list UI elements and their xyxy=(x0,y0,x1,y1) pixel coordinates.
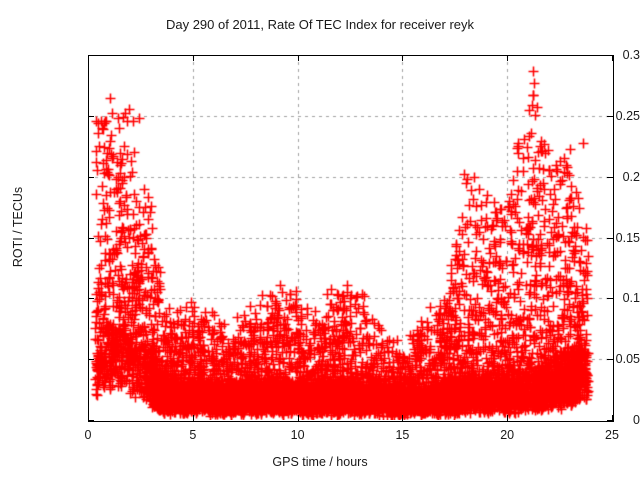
y-tickmark xyxy=(607,298,613,299)
x-tickmark xyxy=(298,55,299,61)
page-title: Day 290 of 2011, Rate Of TEC Index for r… xyxy=(0,17,640,32)
roti-scatter-plot: Day 290 of 2011, Rate Of TEC Index for r… xyxy=(0,0,640,480)
x-tick-label: 25 xyxy=(582,428,640,442)
x-tickmark xyxy=(88,415,89,421)
y-tickmark xyxy=(88,177,94,178)
x-tickmark xyxy=(507,415,508,421)
y-tickmark xyxy=(88,238,94,239)
x-tickmark xyxy=(193,415,194,421)
x-tickmark xyxy=(402,415,403,421)
y-tickmark xyxy=(607,238,613,239)
y-tickmark xyxy=(607,177,613,178)
y-tickmark xyxy=(88,116,94,117)
x-axis-label: GPS time / hours xyxy=(0,455,640,469)
x-tickmark xyxy=(507,55,508,61)
y-tick-label: 0.2 xyxy=(562,170,640,184)
x-tickmark xyxy=(193,55,194,61)
y-tick-label: 0 xyxy=(562,413,640,427)
y-tickmark xyxy=(88,359,94,360)
y-tick-label: 0.05 xyxy=(562,352,640,366)
x-tickmark xyxy=(88,55,89,61)
x-tick-label: 5 xyxy=(163,428,223,442)
x-tickmark xyxy=(298,415,299,421)
x-tick-label: 10 xyxy=(268,428,328,442)
y-tickmark xyxy=(607,116,613,117)
y-tickmark xyxy=(607,359,613,360)
y-axis-label: ROTI / TECUs xyxy=(11,147,25,307)
y-tick-label: 0.15 xyxy=(562,231,640,245)
x-tickmark xyxy=(612,415,613,421)
x-tick-label: 20 xyxy=(477,428,537,442)
plot-area xyxy=(88,55,612,420)
x-tick-label: 0 xyxy=(58,428,118,442)
y-tick-label: 0.1 xyxy=(562,291,640,305)
x-tick-label: 15 xyxy=(372,428,432,442)
x-tickmark xyxy=(612,55,613,61)
y-tick-label: 0.3 xyxy=(562,48,640,62)
y-tick-label: 0.25 xyxy=(562,109,640,123)
y-tickmark xyxy=(88,298,94,299)
x-tickmark xyxy=(402,55,403,61)
